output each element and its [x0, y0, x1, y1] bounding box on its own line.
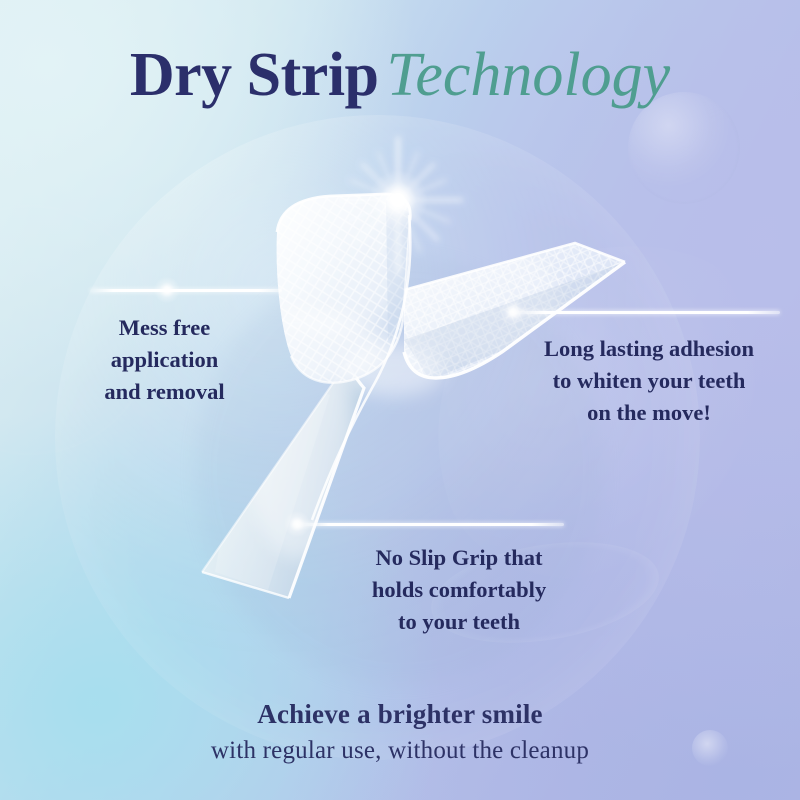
connector-line-long-lasting: [512, 311, 780, 314]
footer-line-1: Achieve a brighter smile: [0, 697, 800, 732]
callout-line: to whiten your teeth: [500, 365, 798, 397]
page-title: Dry StripTechnology: [0, 44, 800, 107]
callout-line: Long lasting adhesion: [500, 333, 798, 365]
callout-no-slip-grip: No Slip Grip that holds comfortably to y…: [330, 542, 588, 638]
callout-line: on the move!: [500, 397, 798, 429]
footer-line-2: with regular use, without the cleanup: [0, 735, 800, 768]
connector-glow-long-lasting: [500, 299, 526, 325]
callout-line: and removal: [42, 376, 287, 408]
title-italic-text: Technology: [387, 41, 671, 109]
callout-line: holds comfortably: [330, 574, 588, 606]
callout-line: application: [42, 344, 287, 376]
callout-line: No Slip Grip that: [330, 542, 588, 574]
callout-line: to your teeth: [330, 606, 588, 638]
connector-line-mess-free: [90, 289, 282, 292]
connector-line-no-slip-grip: [296, 523, 564, 526]
connector-glow-mess-free: [154, 277, 180, 303]
callout-line: Mess free: [42, 312, 287, 344]
connector-glow-no-slip-grip: [284, 511, 310, 537]
title-bold-text: Dry Strip: [130, 41, 379, 109]
footer-tagline: Achieve a brighter smile with regular us…: [0, 697, 800, 768]
callout-long-lasting: Long lasting adhesion to whiten your tee…: [500, 333, 798, 429]
poster-canvas: Dry StripTechnology Mess free applicatio…: [0, 0, 800, 800]
callout-mess-free: Mess free application and removal: [42, 312, 287, 408]
